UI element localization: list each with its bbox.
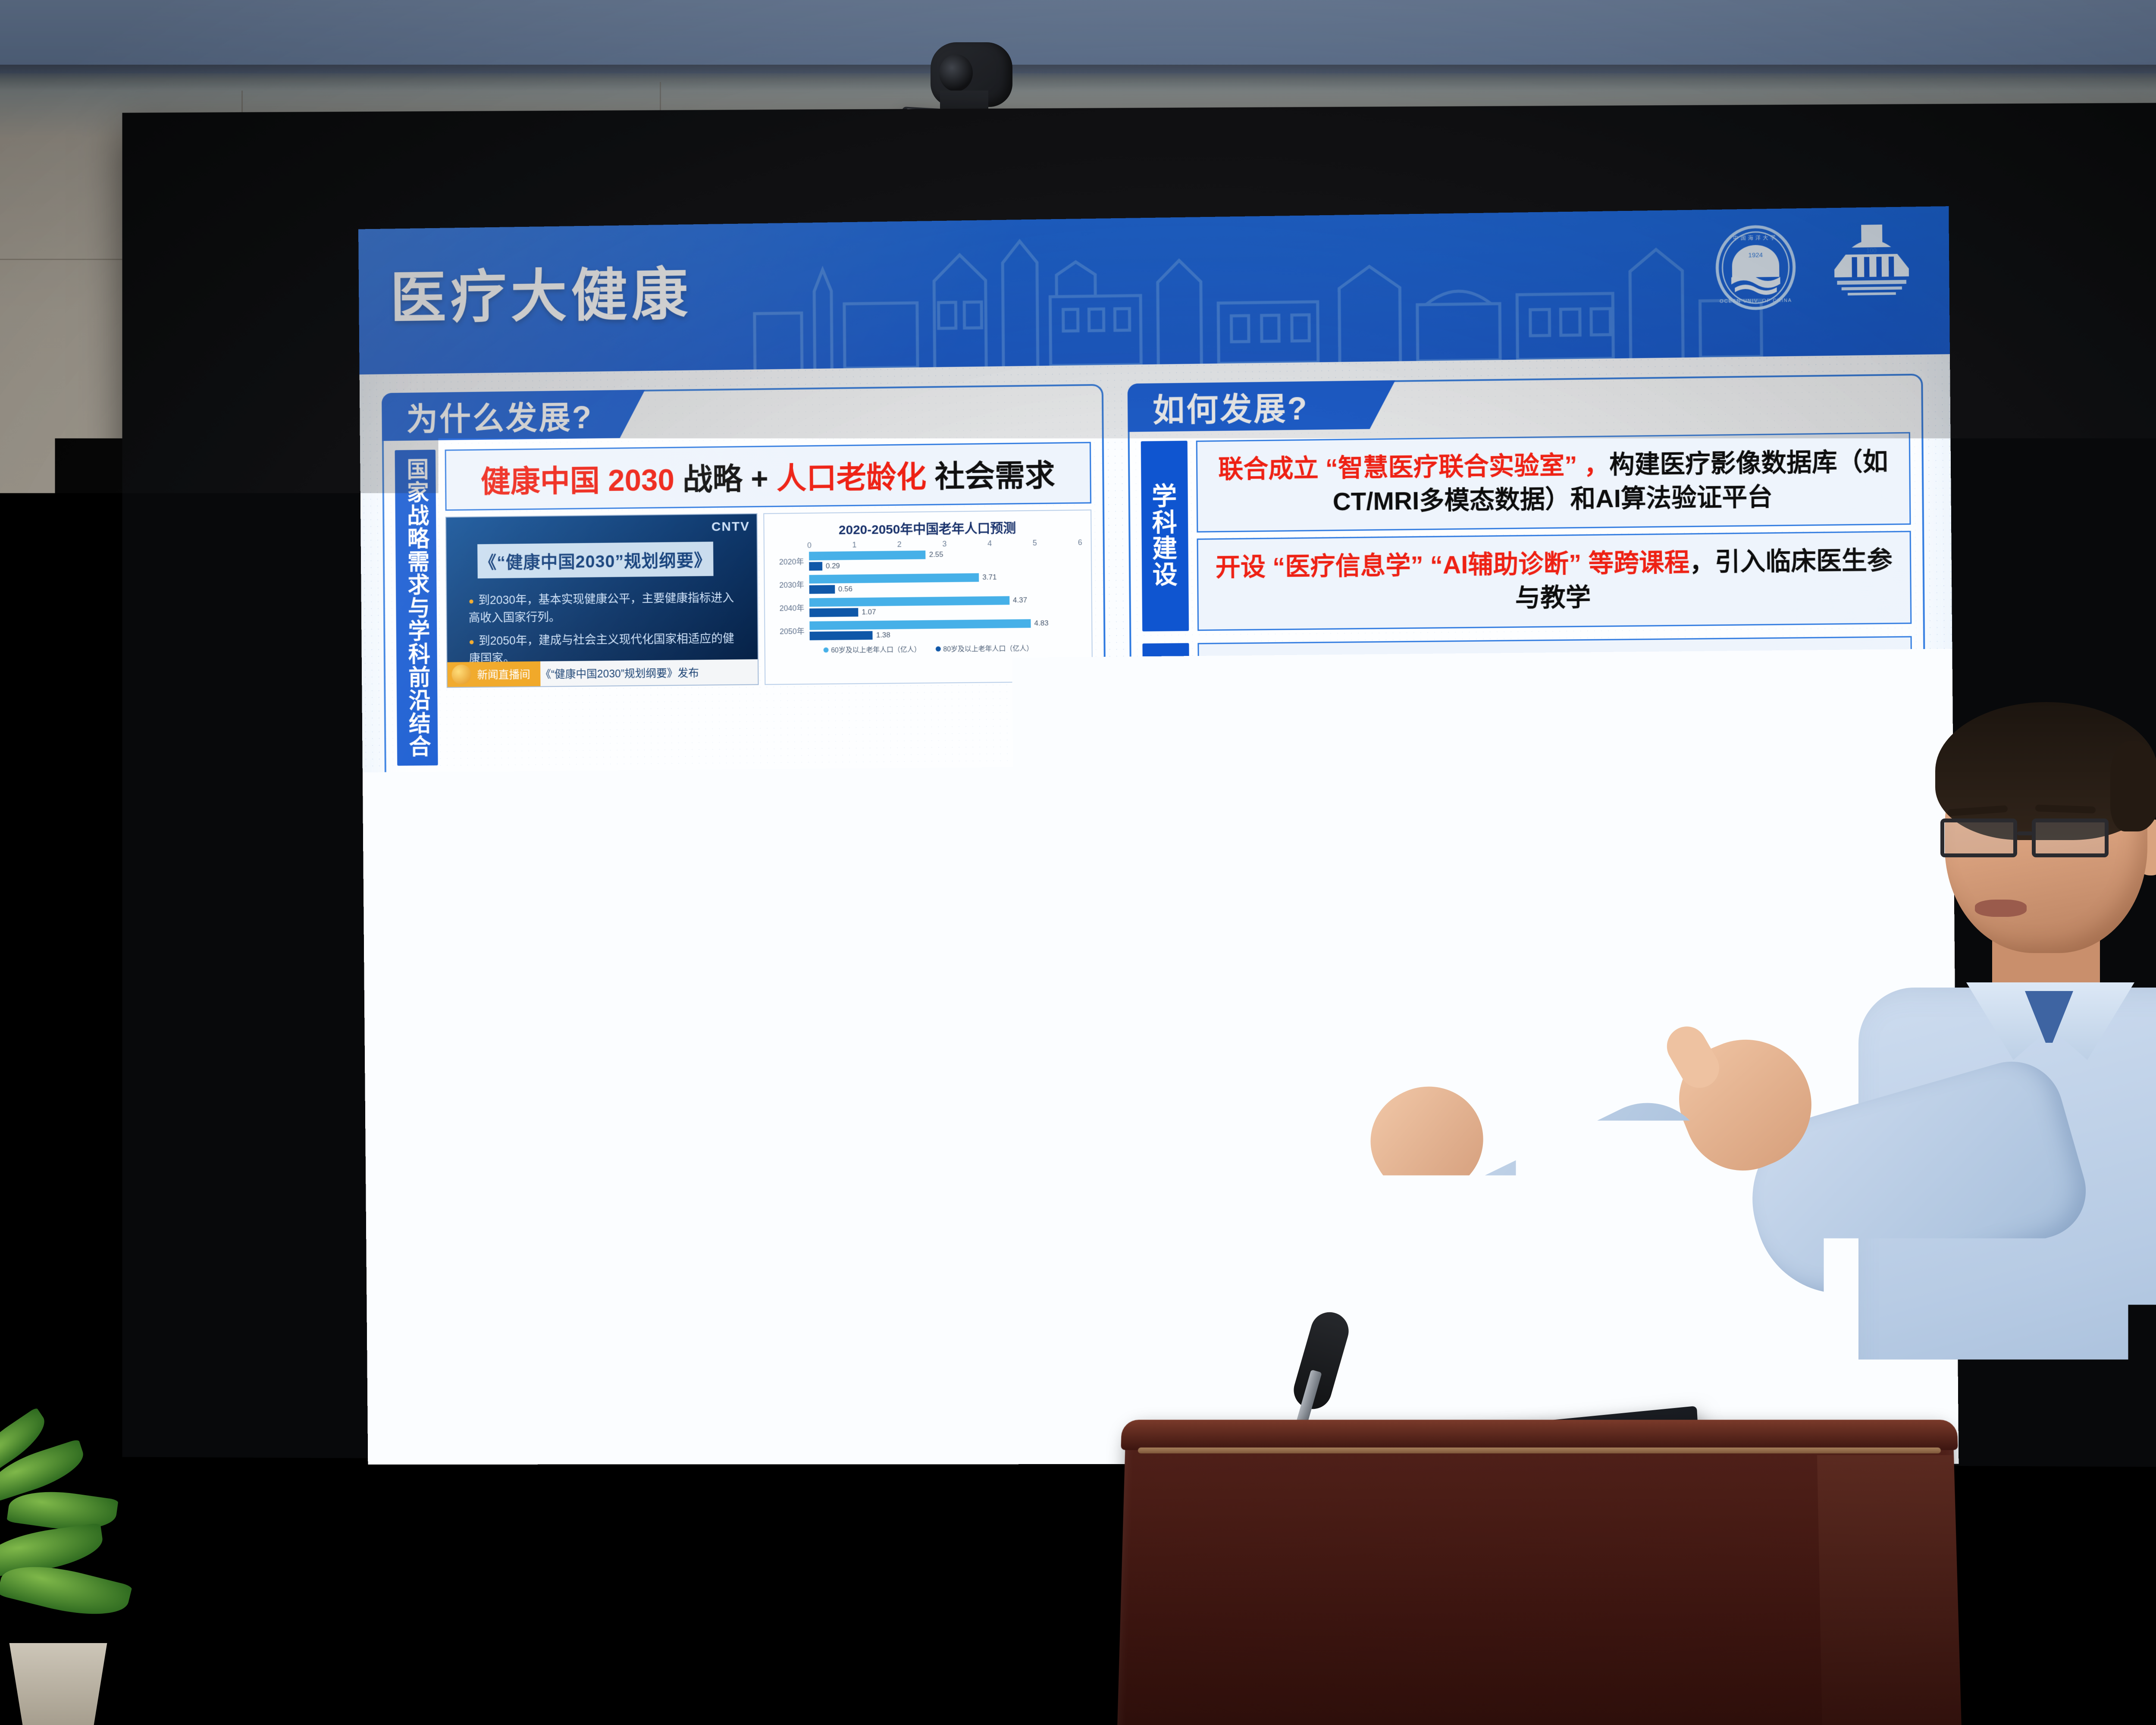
market-size-bar: 5.2万亿: [548, 941, 578, 1000]
market-size-bar: 7.0万亿: [608, 924, 638, 1000]
news-globe-icon: [451, 665, 471, 684]
market-size-chart-title: 2016-2025年中国医疗健康市场规模: [455, 849, 760, 870]
potted-plant-left: [0, 1402, 164, 1725]
market-size-bar: 3.9万亿: [488, 953, 518, 1000]
centennial-anniversary-emblem-icon: 100: [1825, 220, 1918, 312]
elderly-population-chart-title: 2020-2050年中国老年人口预测: [771, 517, 1084, 539]
presentation-slide: 医疗大健康 1924 中国海洋大学 OCEAN UNIV. OF CHINA: [358, 206, 1959, 1465]
elderly-chart-row: 2020年2.550.29: [772, 549, 1084, 571]
support-header-resources: 资源整合: [1145, 924, 1394, 974]
page-title: 医疗大健康: [390, 248, 692, 334]
cntv-news-screenshot: CNTV 《“健康中国2030”规划纲要》 到2030年，基本实现健康公平，主要…: [445, 513, 759, 688]
power-outlet[interactable]: [832, 1634, 888, 1690]
market-share-legend: 医疗服务市场药品市场保健品产品市场数字化医疗服务市场医疗器械设备市场: [952, 847, 1089, 1020]
donut-legend-entry: 药品市场: [952, 913, 1088, 923]
svg-text:100: 100: [1866, 247, 1877, 254]
ceiling-shadow: [0, 65, 2156, 91]
market-size-bars: 3.2万亿3.9万亿4.6万亿5.2万亿6.1万亿7.0万亿8.1万亿9.3万亿…: [455, 870, 761, 1001]
presenter-glasses-icon: [1940, 819, 2126, 862]
left-block-interdisciplinary: 学科交叉与创新能力培养 培育 “计算机 + 医学” 复合型人才: [400, 1081, 1098, 1353]
why-develop-tab: 为什么发展?: [382, 390, 646, 441]
market-size-bar: 12.0万亿: [727, 878, 758, 999]
donut-slice-label: 15.3%: [826, 922, 841, 928]
market-size-bar: 3.2万亿: [458, 960, 488, 1001]
blockchain-network-icon: [451, 1151, 661, 1295]
podium-trim-rail: [1138, 1448, 1941, 1454]
left-block-1-label: 国家战略需求与学科前沿结合: [395, 450, 438, 766]
logo-group: 1924 中国海洋大学 OCEAN UNIV. OF CHINA 100: [1711, 220, 1918, 314]
donut-legend-entry: 保健品产品市场: [952, 929, 1088, 938]
donut-legend-entry: 医疗器械设备市场: [953, 960, 1088, 969]
donut-graphic: 52.6%19.6%15.3%9.6%2.9%: [780, 847, 953, 1021]
why-develop-panel: 为什么发展? 国家战略需求与学科前沿结合 健康中国 2030 战略 + 人口老龄…: [382, 384, 1111, 1366]
elderly-chart-row: 2050年4.831.38: [773, 619, 1084, 641]
left-block-national-strategy: 国家战略需求与学科前沿结合 健康中国 2030 战略 + 人口老龄化 社会需求 …: [395, 442, 1094, 766]
blockchain-caption: BLOCKCHAIN: [473, 1232, 634, 1255]
left-block-market-demand: 市场需求与学科竞争力提升 全球市场规模超万亿美元 2016-2025年中国医疗健…: [397, 773, 1096, 1071]
news-bullet-1: 到2030年，基本实现健康公平，主要健康指标进入高收入国家行列。: [468, 589, 742, 627]
svg-text:OCEAN UNIV. OF CHINA: OCEAN UNIV. OF CHINA: [1720, 298, 1792, 304]
headline-global-market-size: 全球市场规模超万亿美元: [448, 773, 1094, 839]
how-develop-tab: 如何发展?: [1128, 380, 1396, 432]
donut-legend-entry: 数字化医疗服务市场: [953, 944, 1088, 954]
market-size-bar: 8.1万亿: [638, 914, 668, 1000]
slide-body: 为什么发展? 国家战略需求与学科前沿结合 健康中国 2030 战略 + 人口老龄…: [360, 354, 1959, 1465]
market-size-tick: 2025: [729, 1002, 759, 1010]
market-size-tick: 2017: [489, 1003, 519, 1011]
cagr-annotation-1: 2016-2020 CAGR：17.4%: [512, 900, 597, 915]
elderly-chart-row: 2040年4.371.07: [773, 596, 1084, 618]
discipline-box-1: 联合成立 “智慧医疗联合实验室” ，构建医疗影像数据库（如CT/MRI多模态数据…: [1196, 432, 1911, 533]
slide-header: 医疗大健康 1924 中国海洋大学 OCEAN UNIV. OF CHINA: [358, 206, 1950, 374]
elderly-chart-rows: 2020年2.550.292030年3.710.562040年4.371.072…: [771, 549, 1085, 641]
market-share-chart-title: 大健康行业细分市场份额占比: [774, 846, 1093, 867]
market-size-tick: 2023: [668, 1002, 699, 1010]
presenter: [1854, 712, 2156, 1725]
left-block-2-label: 市场需求与学科竞争力提升: [397, 778, 440, 1071]
market-size-tick: 2021: [608, 1003, 639, 1010]
research-box-2: 开发符合临床需求的AI辅助诊断系统，申请CFDA三类医疗器械认证: [1198, 735, 1913, 833]
vr-data-glyphs: ◇◇◇: [1050, 1181, 1083, 1196]
market-size-bar-chart: 2016-2025年中国医疗健康市场规模 2016-2020 CAGR：17.4…: [448, 843, 768, 1029]
legend-entry: 60岁及以上老年人口（亿人）: [823, 643, 921, 655]
news-ticker-text: 《“健康中国2030”规划纲要》发布: [530, 665, 699, 681]
left-column: 为什么发展? 国家战略需求与学科前沿结合 健康中国 2030 战略 + 人口老龄…: [382, 384, 1112, 1446]
market-size-categories: 2016201720182019202020212022202320242025: [456, 999, 761, 1011]
elderly-chart-row: 2030年3.710.56: [772, 572, 1084, 594]
school-support-tab: 学校支持: [1131, 856, 1556, 908]
market-size-xlabel: 年份（年）: [456, 1011, 761, 1022]
cagr-annotation-2: 2021-2025 CAGR：16.3%: [656, 869, 741, 884]
market-size-tick: 2020: [578, 1003, 608, 1010]
campus-skyline-illustration: [737, 226, 1775, 370]
research-box-1: 聚焦医疗NLP、基因组数据挖掘等方向，发表高影响力论文（如《Nature Med…: [1197, 636, 1912, 735]
legend-entry: 80岁及以上老年人口（亿人）: [935, 643, 1033, 654]
vr-interaction-image: ◇◇◇: [884, 1148, 1098, 1295]
left-block-3-label: 学科交叉与创新能力培养: [400, 1084, 442, 1353]
donut-slice-label: 19.6%: [834, 957, 849, 963]
donut-legend-entry: 医疗服务市场: [952, 898, 1088, 907]
discipline-construction-label: 学科 建设: [1141, 441, 1189, 631]
presenter-belt: [1979, 1690, 2156, 1725]
presentation-scene: 医疗大健康 1924 中国海洋大学 OCEAN UNIV. OF CHINA: [0, 0, 2156, 1725]
market-size-bar: 4.6万亿: [518, 947, 548, 1000]
market-size-bar: 10.6万亿: [698, 891, 729, 1000]
market-size-tick: 2019: [548, 1003, 579, 1011]
research-layout-label: 科研 布局: [1142, 643, 1190, 834]
svg-text:1924: 1924: [1748, 252, 1763, 259]
ai-brain-image: AI: [666, 1149, 879, 1296]
blockchain-network-image: BLOCKCHAIN: [450, 1150, 662, 1296]
how-develop-panel: 如何发展? 学科 建设 联合成立: [1128, 373, 1927, 848]
ceiling-band: [0, 0, 2156, 73]
donut-slice-label: 2.9%: [857, 897, 869, 903]
support-body-resources: 跨学院、跨领域协作，需校级统筹: [1145, 978, 1395, 1121]
elderly-chart-legend: 60岁及以上老年人口（亿人）80岁及以上老年人口（亿人）: [772, 642, 1085, 655]
market-size-bar: 6.1万亿: [578, 933, 608, 1000]
presenter-mouth: [1975, 900, 2027, 917]
market-size-tick: 2024: [699, 1002, 729, 1010]
market-size-tick: 2016: [458, 1004, 489, 1011]
svg-text:中国海洋大学: 中国海洋大学: [1733, 235, 1777, 241]
market-size-bar: 9.3万亿: [667, 903, 698, 1000]
news-ticker: 新闻直播间 《“健康中国2030”规划纲要》发布: [447, 659, 758, 687]
podium-top-surface: [1121, 1420, 1958, 1450]
ai-caption: AI: [756, 1191, 790, 1225]
support-header-funding: 资金与设备投入: [1403, 922, 1653, 972]
market-size-tick: 2022: [638, 1002, 668, 1010]
cntv-logo: CNTV: [711, 519, 750, 534]
headline-health-china-2030: 健康中国 2030 战略 + 人口老龄化 社会需求: [445, 442, 1091, 511]
discipline-construction-item: 学科 建设 联合成立 “智慧医疗联合实验室” ，构建医疗影像数据库（如CT/MR…: [1141, 432, 1912, 631]
ocean-university-of-china-emblem-icon: 1924 中国海洋大学 OCEAN UNIV. OF CHINA: [1711, 223, 1799, 311]
donut-svg: 52.6%19.6%15.3%9.6%2.9%: [812, 881, 920, 989]
news-headline-band: 《“健康中国2030”规划纲要》: [477, 542, 713, 578]
support-column-resources: 资源整合 跨学院、跨领域协作，需校级统筹: [1145, 924, 1395, 1122]
vr-red-highlight: [1020, 1201, 1050, 1216]
donut-slice-label: 9.6%: [844, 901, 856, 907]
market-share-donut-chart: 大健康行业细分市场份额占比 52.6%19.6%15.3%9.6%2.9% 医疗…: [773, 841, 1095, 1028]
plant-pot: [0, 1643, 116, 1725]
donut-slice-label: 52.6%: [893, 935, 908, 941]
market-size-tick: 2018: [518, 1003, 548, 1011]
research-layout-item: 科研 布局 聚焦医疗NLP、基因组数据挖掘等方向，发表高影响力论文（如《Natu…: [1142, 636, 1913, 834]
elderly-population-chart: 2020-2050年中国老年人口预测 0123456 2020年2.550.29…: [763, 510, 1093, 685]
headline-cs-plus-medicine: 培育 “计算机 + 医学” 复合型人才: [450, 1081, 1097, 1145]
discipline-box-2: 开设 “医疗信息学” “AI辅助诊断” 等跨课程，引入临床医生参与教学: [1197, 531, 1912, 631]
wooden-podium: [1116, 1430, 1962, 1725]
